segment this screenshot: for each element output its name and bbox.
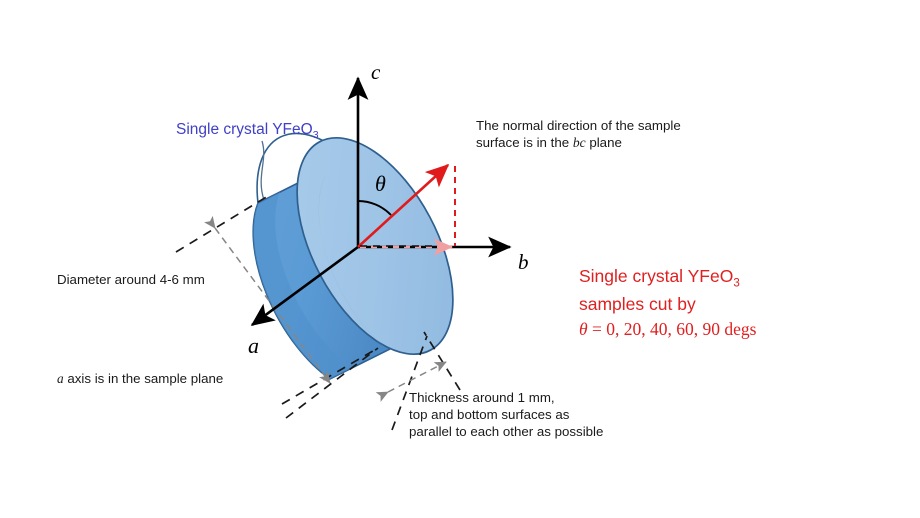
red-note-theta-values: = 0, 20, 40, 60, 90 degs (588, 319, 757, 339)
a-axis-italic: a (57, 371, 64, 386)
normal-note-line2-post: plane (586, 135, 622, 150)
thickness-line1: Thickness around 1 mm, (409, 390, 555, 405)
crystal-label-leader-line (261, 141, 264, 200)
figure-canvas: Single crystal YFeO3 The normal directio… (0, 0, 920, 518)
a-axis-plane-note: a axis is in the sample plane (57, 370, 223, 387)
c-axis-label: c (371, 60, 380, 85)
diameter-note: Diameter around 4-6 mm (57, 271, 205, 288)
normal-note-line2-pre: surface is in the (476, 135, 573, 150)
red-note-line2: samples cut by (579, 294, 696, 314)
crystal-label: Single crystal YFeO3 (176, 120, 319, 143)
red-note-line1: Single crystal YFeO (579, 266, 733, 286)
a-axis-label: a (248, 333, 259, 359)
crystal-label-subscript: 3 (313, 129, 319, 141)
theta-angle-label: θ (375, 171, 386, 197)
red-note-line3: θ = 0, 20, 40, 60, 90 degs (579, 319, 756, 339)
thickness-line2: top and bottom surfaces as (409, 407, 569, 422)
b-axis-label: b (518, 250, 529, 275)
red-note-theta-symbol: θ (579, 319, 588, 339)
crystal-label-text: Single crystal YFeO (176, 121, 313, 138)
diagram-graphics (0, 0, 920, 518)
red-sample-note: Single crystal YFeO3samples cut byθ = 0,… (579, 264, 756, 342)
normal-direction-note: The normal direction of the samplesurfac… (476, 117, 681, 151)
normal-note-plane-italic: bc (573, 135, 586, 150)
red-note-line1-subscript: 3 (733, 278, 739, 290)
thickness-dimension-arrow (388, 362, 446, 392)
thickness-line3: parallel to each other as possible (409, 424, 603, 439)
thickness-note: Thickness around 1 mm,top and bottom sur… (409, 389, 603, 440)
normal-note-line1: The normal direction of the sample (476, 118, 681, 133)
a-axis-plane-text: axis is in the sample plane (64, 371, 224, 386)
